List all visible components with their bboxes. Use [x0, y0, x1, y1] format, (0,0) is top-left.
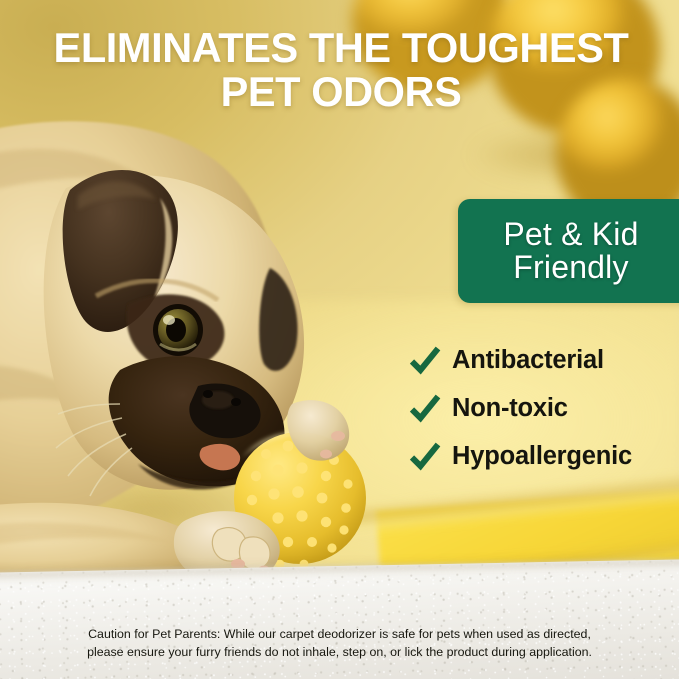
headline-line-1: ELIMINATES THE TOUGHEST [30, 28, 652, 69]
caption-line-2: please ensure your furry friends do not … [0, 644, 679, 662]
pug-dog-photo [0, 118, 400, 588]
feature-label: Antibacterial [452, 346, 604, 375]
check-icon [408, 391, 442, 425]
feature-item-hypoallergenic: Hypoallergenic [408, 432, 674, 480]
feature-label: Non-toxic [452, 394, 568, 423]
caution-caption: Caution for Pet Parents: While our carpe… [0, 626, 679, 661]
check-icon [408, 343, 442, 377]
caption-line-1: Caution for Pet Parents: While our carpe… [0, 626, 679, 644]
page-title: ELIMINATES THE TOUGHEST PET ODORS [30, 28, 652, 112]
check-icon [408, 439, 442, 473]
headline-line-2: PET ODORS [30, 72, 652, 113]
badge-text: Pet & Kid Friendly [495, 218, 652, 285]
badge-line-1: Pet & Kid [503, 218, 638, 251]
badge-line-2: Friendly [503, 251, 638, 284]
pet-kid-friendly-badge: Pet & Kid Friendly [458, 199, 679, 303]
feature-item-non-toxic: Non-toxic [408, 384, 674, 432]
feature-list: Antibacterial Non-toxic Hypoallergenic [408, 336, 674, 480]
feature-label: Hypoallergenic [452, 442, 632, 471]
product-marketing-image: ELIMINATES THE TOUGHEST PET ODORS Pet & … [0, 0, 679, 679]
feature-item-antibacterial: Antibacterial [408, 336, 674, 384]
